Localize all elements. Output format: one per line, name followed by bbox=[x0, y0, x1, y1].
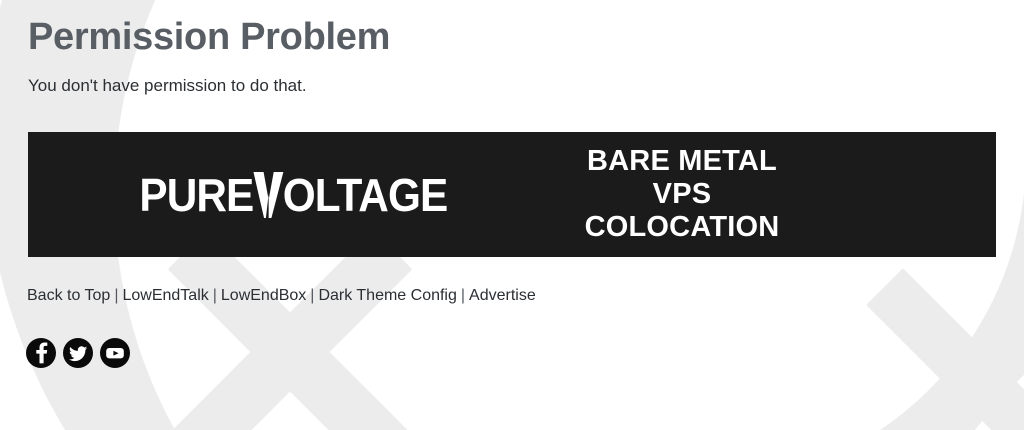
footer-links: Back to Top|LowEndTalk|LowEndBox|Dark Th… bbox=[27, 286, 536, 306]
social-links bbox=[25, 337, 131, 369]
footer-separator: | bbox=[209, 287, 221, 304]
footer-link-dark-theme-config[interactable]: Dark Theme Config bbox=[318, 287, 456, 304]
footer-link-lowendtalk[interactable]: LowEndTalk bbox=[122, 287, 208, 304]
banner-line-3: COLOCATION bbox=[585, 211, 780, 244]
banner-copy: BARE METAL VPS COLOCATION bbox=[558, 145, 996, 244]
footer-link-back-to-top[interactable]: Back to Top bbox=[27, 287, 110, 304]
lightning-bolt-v-icon bbox=[252, 170, 283, 220]
facebook-icon bbox=[25, 337, 57, 369]
page-title: Permission Problem bbox=[28, 14, 390, 60]
twitter-link[interactable] bbox=[62, 337, 94, 369]
footer-separator: | bbox=[457, 287, 469, 304]
page-message: You don't have permission to do that. bbox=[28, 75, 307, 97]
footer-separator: | bbox=[110, 287, 122, 304]
banner-line-1: BARE METAL bbox=[587, 145, 777, 178]
footer-link-advertise[interactable]: Advertise bbox=[469, 287, 536, 304]
footer-separator: | bbox=[306, 287, 318, 304]
sponsor-banner[interactable]: PURE OLTAGE BARE METAL VPS COLOCATION bbox=[28, 132, 996, 257]
logo-text-pure: PURE bbox=[139, 172, 253, 218]
purevoltage-wordmark: PURE OLTAGE bbox=[139, 170, 447, 220]
purevoltage-logo: PURE OLTAGE bbox=[28, 170, 558, 220]
youtube-icon bbox=[99, 337, 131, 369]
facebook-link[interactable] bbox=[25, 337, 57, 369]
footer-link-lowendbox[interactable]: LowEndBox bbox=[221, 287, 306, 304]
page-root: Permission Problem You don't have permis… bbox=[0, 0, 1024, 430]
twitter-icon bbox=[62, 337, 94, 369]
banner-line-2: VPS bbox=[653, 178, 712, 211]
youtube-link[interactable] bbox=[99, 337, 131, 369]
logo-text-oltage: OLTAGE bbox=[282, 172, 447, 218]
